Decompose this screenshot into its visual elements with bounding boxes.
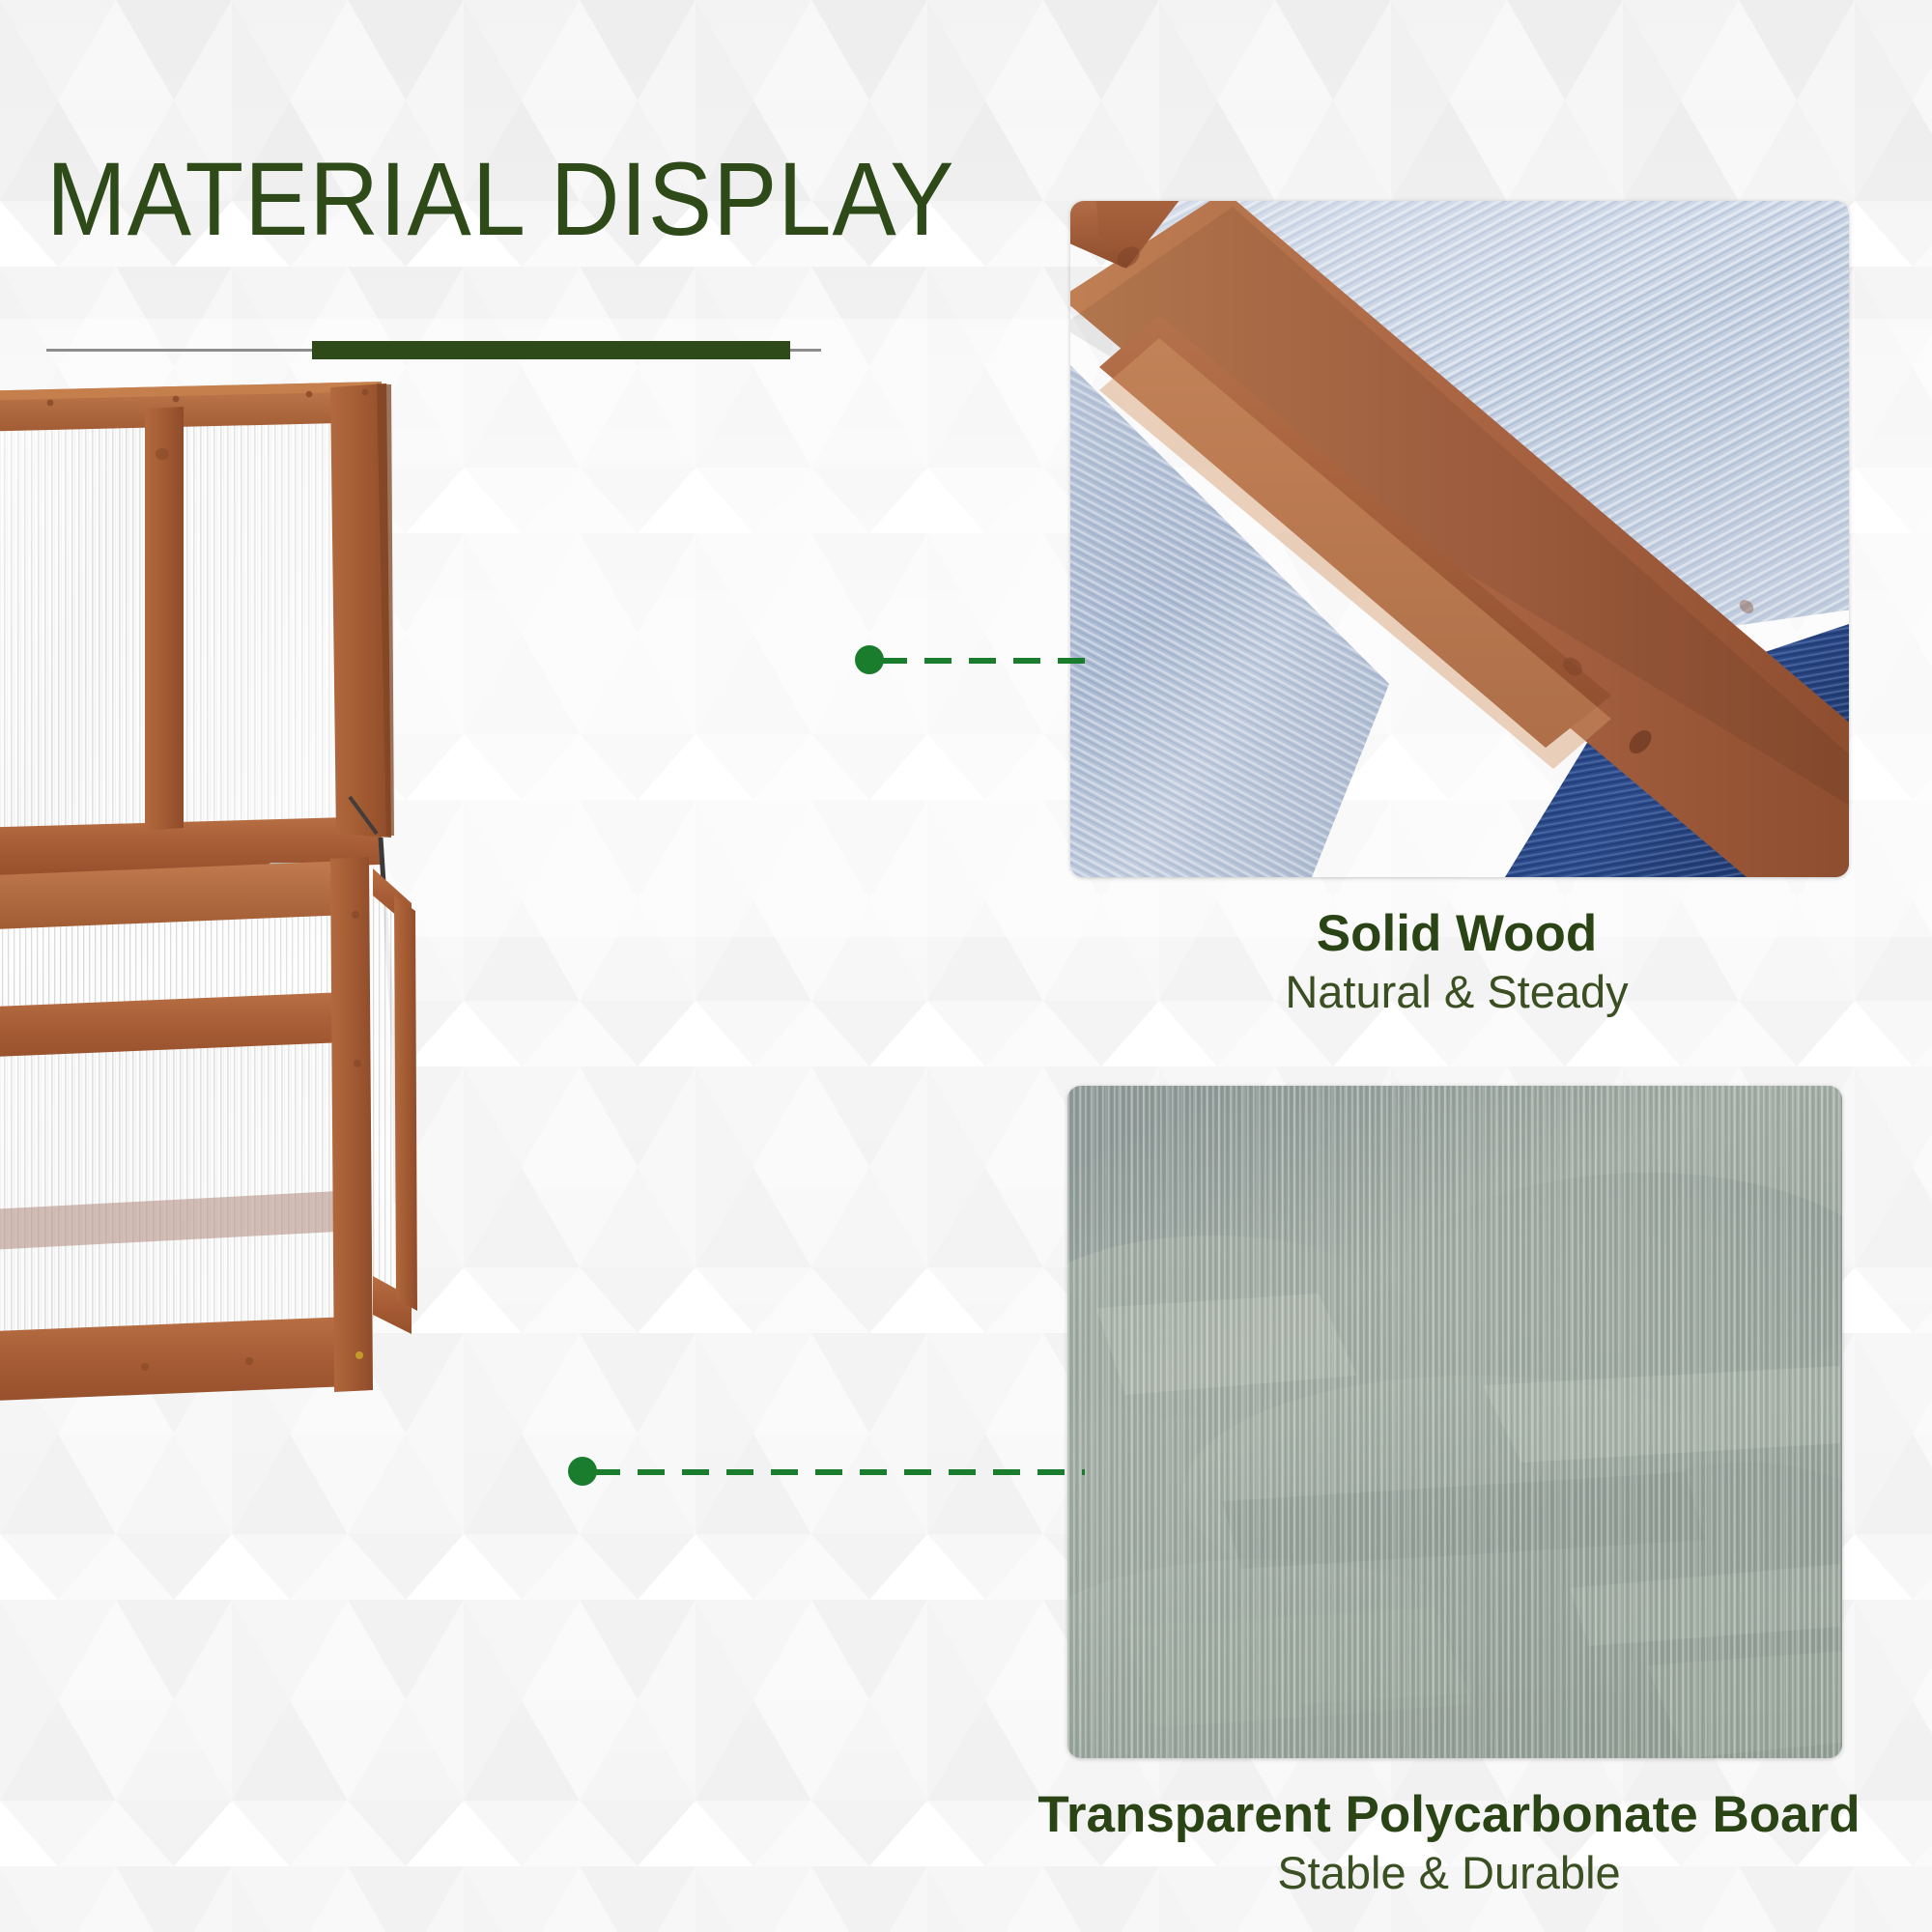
- product-base: [0, 857, 417, 1402]
- caption-polycarbonate-title: Transparent Polycarbonate Board: [966, 1785, 1932, 1845]
- page-title: MATERIAL DISPLAY: [46, 145, 944, 253]
- callout-leader-line: [593, 1469, 1085, 1475]
- caption-solid-wood: Solid Wood Natural & Steady: [1067, 904, 1846, 1020]
- caption-polycarbonate: Transparent Polycarbonate Board Stable &…: [966, 1785, 1932, 1901]
- callout-solid-wood: [855, 645, 1087, 674]
- detail-photo-solid-wood: [1070, 201, 1849, 877]
- caption-solid-wood-title: Solid Wood: [1067, 904, 1846, 964]
- page-header: MATERIAL DISPLAY: [46, 145, 1022, 367]
- title-divider: [46, 341, 821, 358]
- main-product-photo: [0, 382, 773, 1473]
- caption-polycarbonate-subtitle: Stable & Durable: [966, 1845, 1932, 1901]
- callout-leader-line: [880, 658, 1087, 664]
- detail-photo-polycarbonate: [1067, 1086, 1842, 1758]
- product-lid: [0, 382, 394, 876]
- caption-solid-wood-subtitle: Natural & Steady: [1067, 964, 1846, 1020]
- callout-polycarbonate: [568, 1457, 1085, 1486]
- divider-accent-bar: [312, 341, 790, 359]
